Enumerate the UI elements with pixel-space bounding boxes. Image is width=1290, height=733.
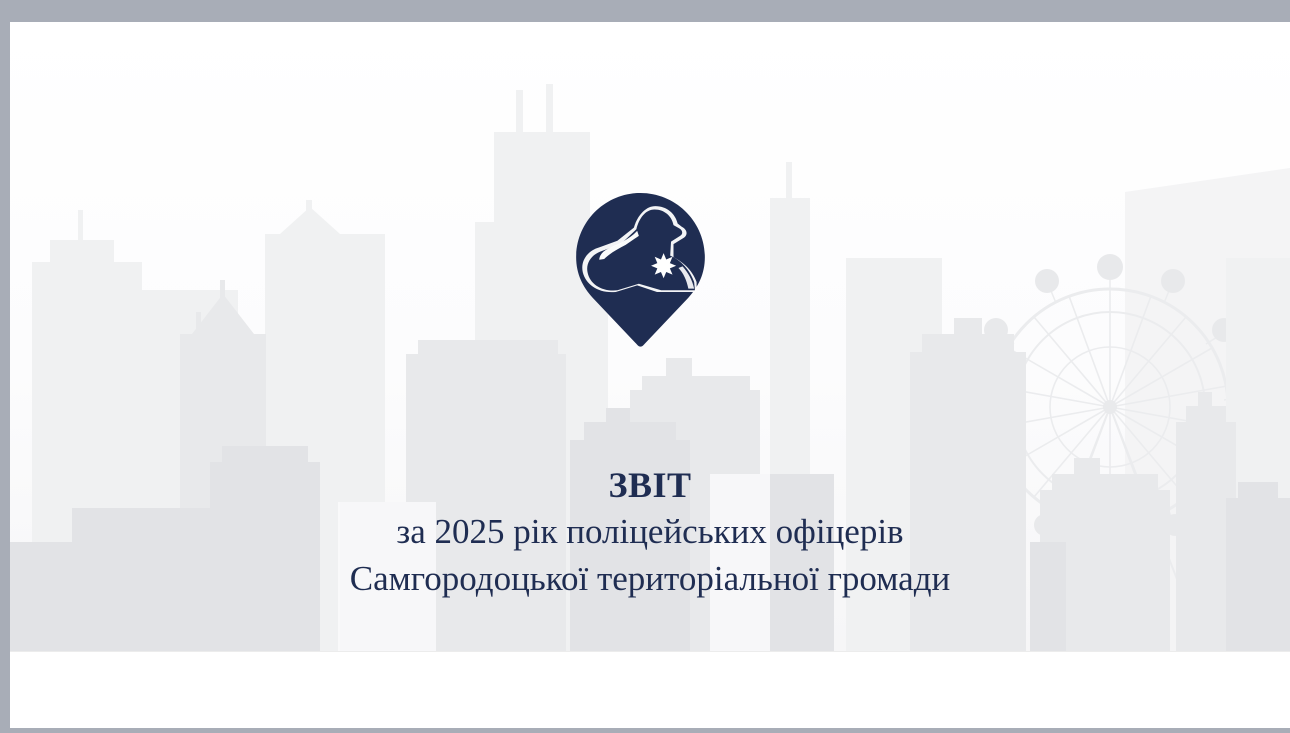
slide-footer-area [10, 651, 1290, 728]
slide-viewer: ЗВІТ за 2025 рік поліцейських офіцерів С… [0, 0, 1290, 733]
eight-point-star-badge [651, 253, 676, 278]
page-title: ЗВІТ [10, 462, 1290, 508]
viewer-frame-top [0, 0, 1290, 22]
presentation-slide: ЗВІТ за 2025 рік поліцейських офіцерів С… [10, 22, 1290, 728]
subtitle-line-1: за 2025 рік поліцейських офіцерів [10, 508, 1290, 555]
police-officer-salute-pin-logo [558, 188, 723, 353]
viewer-frame-left [0, 22, 10, 728]
viewer-frame-bottom [0, 728, 1290, 733]
slide-title-block: ЗВІТ за 2025 рік поліцейських офіцерів С… [10, 462, 1290, 602]
subtitle-line-2: Самгородоцької територіальної громади [10, 555, 1290, 602]
